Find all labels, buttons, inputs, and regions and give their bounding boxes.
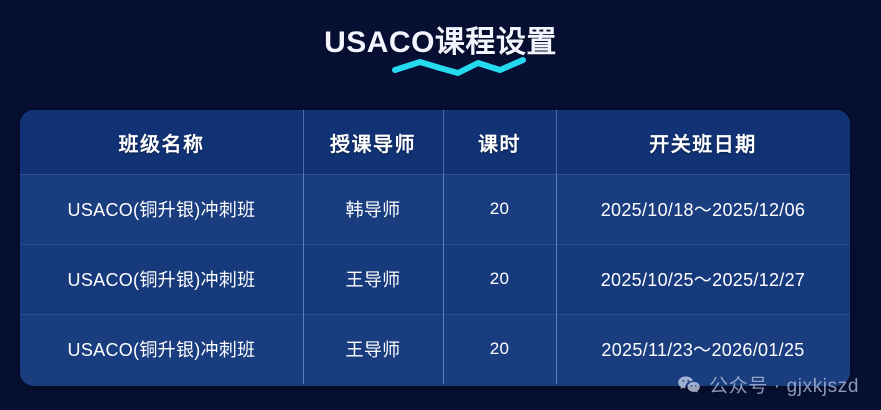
cell-dates: 2025/10/18～2025/12/06 bbox=[556, 174, 850, 244]
watermark-text: 公众号 · gjxkjszd bbox=[709, 371, 859, 398]
cell-tutor: 王导师 bbox=[303, 244, 443, 314]
wechat-icon bbox=[677, 375, 701, 395]
cell-hours: 20 bbox=[443, 244, 556, 314]
watermark: 公众号 · gjxkjszd bbox=[677, 371, 859, 398]
poster-canvas: USACO课程设置 班级名称 授课导师 课时 开关班日期 USACO(铜升银)冲… bbox=[0, 0, 881, 410]
cell-tutor: 韩导师 bbox=[303, 174, 443, 244]
column-header-dates: 开关班日期 bbox=[556, 110, 850, 174]
column-header-class-name: 班级名称 bbox=[20, 110, 303, 174]
title-underline-squiggle bbox=[392, 56, 526, 78]
cell-dates: 2025/10/25～2025/12/27 bbox=[556, 244, 850, 314]
table-row: USACO(铜升银)冲刺班 王导师 20 2025/10/25～2025/12/… bbox=[20, 244, 850, 314]
table-row: USACO(铜升银)冲刺班 韩导师 20 2025/10/18～2025/12/… bbox=[20, 174, 850, 244]
cell-class-name: USACO(铜升银)冲刺班 bbox=[20, 174, 303, 244]
table-header-row: 班级名称 授课导师 课时 开关班日期 bbox=[20, 110, 850, 174]
course-schedule-table: 班级名称 授课导师 课时 开关班日期 USACO(铜升银)冲刺班 韩导师 20 … bbox=[20, 110, 850, 386]
cell-class-name: USACO(铜升银)冲刺班 bbox=[20, 314, 303, 384]
column-header-hours: 课时 bbox=[443, 110, 556, 174]
cell-hours: 20 bbox=[443, 174, 556, 244]
cell-hours: 20 bbox=[443, 314, 556, 384]
cell-class-name: USACO(铜升银)冲刺班 bbox=[20, 244, 303, 314]
cell-tutor: 王导师 bbox=[303, 314, 443, 384]
column-header-tutor: 授课导师 bbox=[303, 110, 443, 174]
